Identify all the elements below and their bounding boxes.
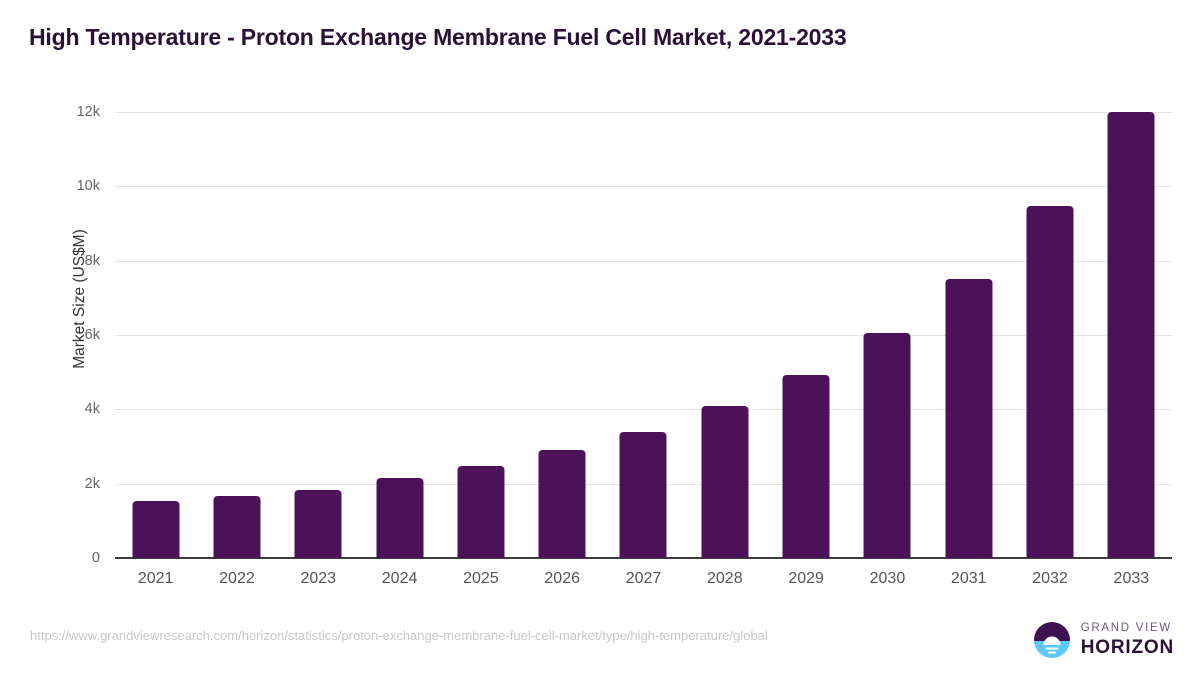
logo-wordmark: GRAND VIEW HORIZON [1081,623,1174,658]
bar-2023[interactable] [295,490,342,558]
bar-series [115,112,1172,558]
bar-slot [928,112,1009,558]
y-axis-tick-label: 0 [92,550,100,566]
x-axis-tick-label-2031: 2031 [951,570,987,588]
bar-slot [115,112,196,558]
x-axis-tick-label-2025: 2025 [463,570,499,588]
bar-2025[interactable] [457,466,504,558]
bar-2030[interactable] [864,333,911,558]
bar-2029[interactable] [783,375,830,558]
y-axis-tick-label: 10k [77,178,100,194]
x-axis-tick-label-2032: 2032 [1032,570,1068,588]
logo-line-grand-view: GRAND VIEW [1081,623,1174,635]
bar-2027[interactable] [620,432,667,558]
bar-slot [522,112,603,558]
horizon-circle-icon [1032,620,1072,660]
x-axis-tick-label-2029: 2029 [788,570,824,588]
logo-line-horizon: HORIZON [1081,638,1174,657]
bar-2033[interactable] [1108,112,1155,558]
bar-slot [847,112,928,558]
bar-2026[interactable] [539,450,586,558]
bar-slot [603,112,684,558]
bar-slot [196,112,277,558]
y-axis-tick-label: 8k [85,253,100,269]
x-axis-tick-label-2027: 2027 [626,570,662,588]
x-axis-tick-label-2023: 2023 [300,570,336,588]
x-axis-tick-label-2030: 2030 [870,570,906,588]
x-axis-tick-label-2022: 2022 [219,570,255,588]
chart-page: High Temperature - Proton Exchange Membr… [0,0,1200,675]
bar-2022[interactable] [213,496,260,558]
y-axis-tick-label: 6k [85,327,100,343]
x-axis-tick-label-2026: 2026 [544,570,580,588]
bar-slot [359,112,440,558]
x-axis-tick-label-2033: 2033 [1114,570,1150,588]
bar-slot [440,112,521,558]
chart-plot-area: Market Size (US$M) 02k4k6k8k10k12k 20212… [0,0,1200,675]
y-axis-tick-label: 4k [85,401,100,417]
y-axis-title: Market Size (US$M) [71,169,89,429]
x-axis-tick-label-2021: 2021 [138,570,174,588]
source-url[interactable]: https://www.grandviewresearch.com/horizo… [30,628,768,643]
bar-2028[interactable] [701,406,748,558]
x-axis-tick-label-2024: 2024 [382,570,418,588]
y-axis-tick-label: 12k [77,104,100,120]
bar-2021[interactable] [132,501,179,558]
bar-slot [278,112,359,558]
bar-slot [1091,112,1172,558]
bar-slot [765,112,846,558]
bar-2031[interactable] [945,279,992,558]
x-axis-tick-label-2028: 2028 [707,570,743,588]
grand-view-horizon-logo[interactable]: GRAND VIEW HORIZON [1032,620,1174,660]
y-axis-tick-label: 2k [85,476,100,492]
bar-slot [684,112,765,558]
bar-slot [1009,112,1090,558]
bar-2024[interactable] [376,478,423,558]
bar-2032[interactable] [1027,206,1074,558]
